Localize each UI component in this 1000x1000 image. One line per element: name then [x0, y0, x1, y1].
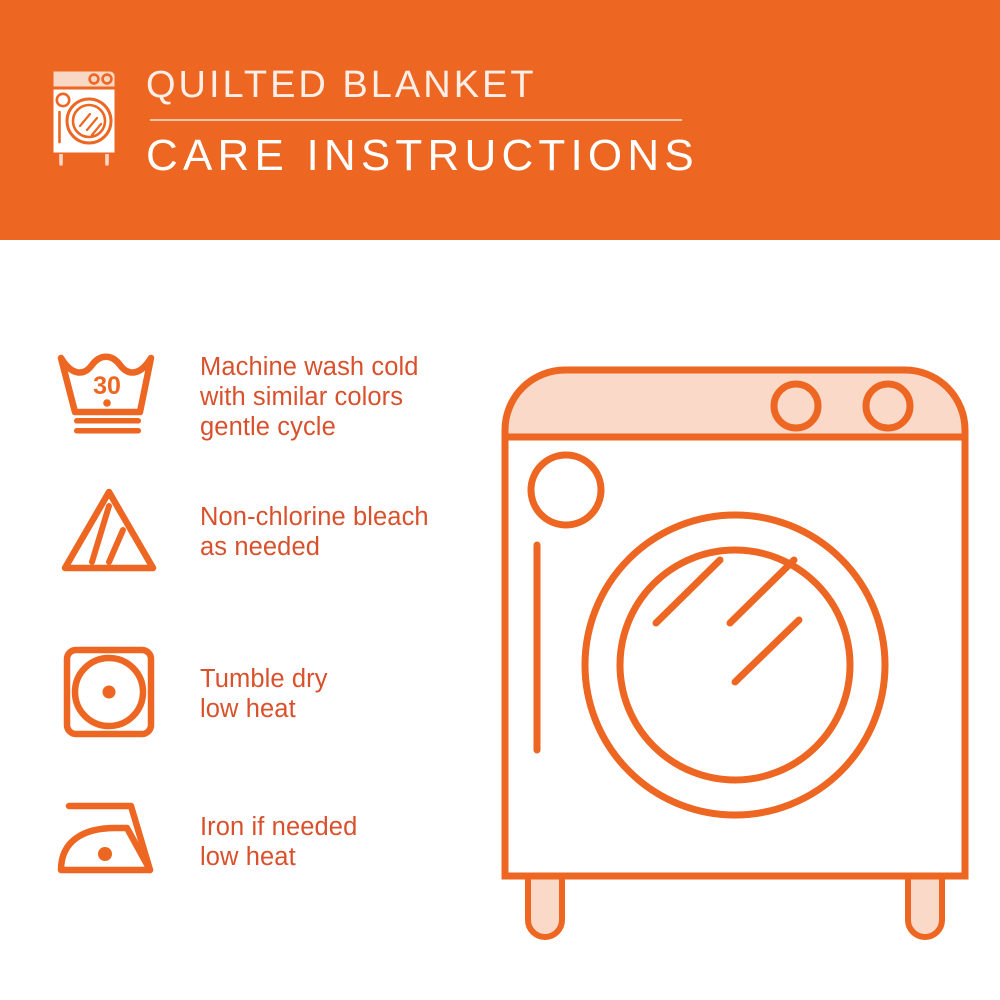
care-text-line: Tumble dry: [200, 664, 328, 694]
tumble-dry-low-heat-icon: [48, 638, 170, 746]
wash-temperature-label: 30: [93, 372, 121, 400]
care-instruction-item: Non-chlorine bleach as needed: [48, 480, 429, 580]
care-text-line: low heat: [200, 694, 328, 724]
leg-left: [528, 876, 562, 937]
care-text-line: Iron if needed: [200, 812, 357, 842]
page-title-main: CARE INSTRUCTIONS: [146, 134, 699, 178]
care-instruction-item: Tumble dry low heat: [48, 638, 328, 746]
page-title-product: QUILTED BLANKET: [146, 66, 699, 104]
care-text-line: as needed: [200, 532, 429, 562]
header-titles: QUILTED BLANKET CARE INSTRUCTIONS: [146, 62, 699, 178]
care-text-line: with similar colors: [200, 382, 419, 412]
washing-machine-icon: [44, 62, 126, 170]
header-band: QUILTED BLANKET CARE INSTRUCTIONS: [0, 0, 1000, 240]
header-content: QUILTED BLANKET CARE INSTRUCTIONS: [44, 62, 699, 178]
care-instruction-label: Tumble dry low heat: [170, 638, 328, 724]
leg-right: [908, 876, 942, 937]
care-instruction-item: Iron if needed low heat: [48, 790, 357, 886]
care-instruction-item: 30 Machine wash cold with similar colors…: [48, 340, 419, 448]
care-text-line: low heat: [200, 842, 357, 872]
title-divider: [150, 119, 682, 121]
care-text-line: Machine wash cold: [200, 352, 419, 382]
washing-machine-illustration: [480, 320, 990, 950]
care-instruction-label: Machine wash cold with similar colors ge…: [170, 340, 419, 442]
machine-wash-cold-gentle-icon: 30: [48, 340, 170, 448]
non-chlorine-bleach-icon: [48, 480, 170, 580]
machine-body: [505, 437, 965, 876]
care-text-line: gentle cycle: [200, 412, 419, 442]
care-text-line: Non-chlorine bleach: [200, 502, 429, 532]
care-instruction-label: Iron if needed low heat: [170, 790, 357, 872]
iron-low-heat-icon: [48, 790, 170, 886]
care-instruction-label: Non-chlorine bleach as needed: [170, 480, 429, 562]
